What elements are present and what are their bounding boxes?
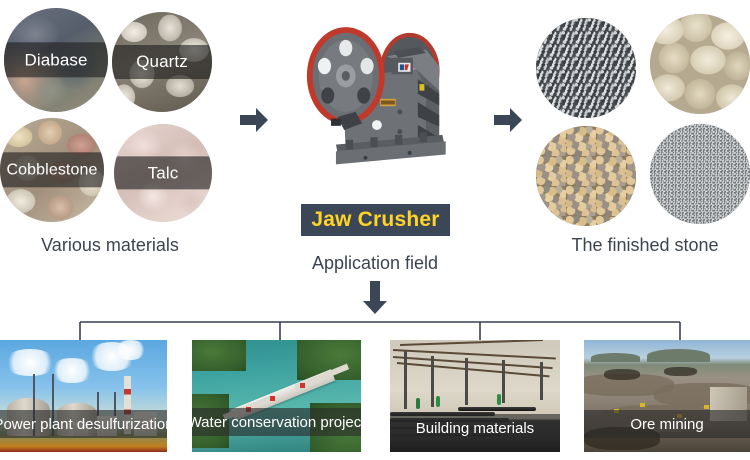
diagram-canvas: Diabase Quartz Cobblestone Talc Various … bbox=[0, 0, 750, 460]
application-label-building-materials: Building materials bbox=[390, 414, 560, 442]
application-label-ore-mining: Ore mining bbox=[584, 410, 750, 438]
connector-tree bbox=[0, 0, 750, 345]
application-photo-water-conservation[interactable]: Water conservation project bbox=[192, 340, 361, 452]
application-label-water-conservation: Water conservation project bbox=[192, 408, 361, 436]
application-photo-ore-mining[interactable]: Ore mining bbox=[584, 340, 750, 452]
application-photo-power-plant[interactable]: Power plant desulfurization bbox=[0, 340, 167, 452]
application-photo-building-materials[interactable]: Building materials bbox=[390, 340, 560, 452]
application-label-power-plant: Power plant desulfurization bbox=[0, 410, 167, 438]
